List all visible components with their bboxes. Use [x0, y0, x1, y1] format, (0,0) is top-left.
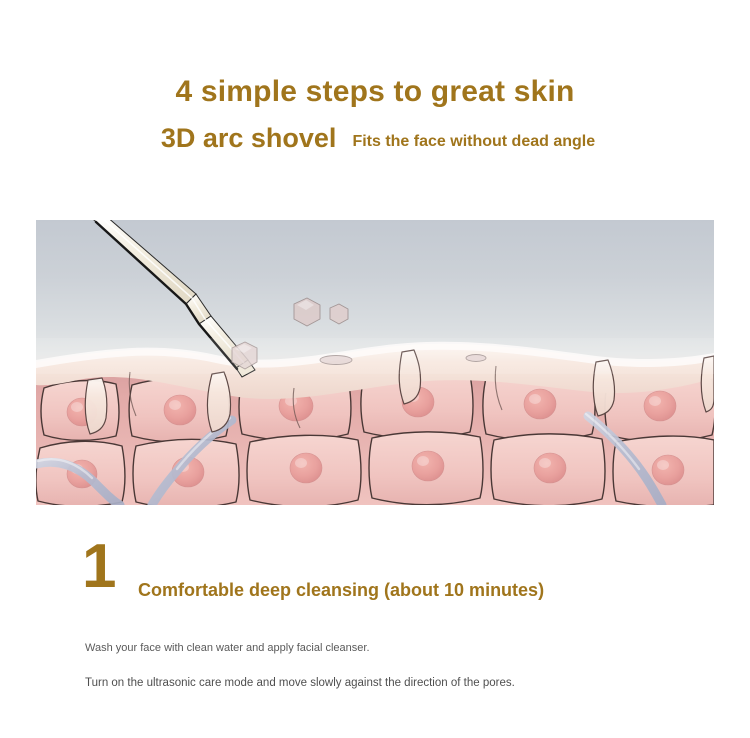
- feature-name: 3D arc shovel: [161, 122, 337, 154]
- step-description-line-1: Wash your face with clean water and appl…: [85, 640, 370, 656]
- step-title: Comfortable deep cleansing (about 10 min…: [138, 578, 544, 602]
- subtitle-row: 3D arc shovel Fits the face without dead…: [0, 122, 750, 154]
- page-title: 4 simple steps to great skin: [0, 74, 750, 110]
- step-block: 1 Comfortable deep cleansing (about 10 m…: [0, 536, 750, 736]
- skin-cross-section-illustration: [36, 220, 714, 505]
- skin-diagram-svg: [36, 220, 714, 505]
- step-description-line-2: Turn on the ultrasonic care mode and mov…: [85, 675, 515, 691]
- feature-tagline: Fits the face without dead angle: [352, 132, 595, 152]
- step-number: 1: [82, 536, 115, 598]
- product-steps-page: 4 simple steps to great skin 3D arc shov…: [0, 0, 750, 738]
- heading-block: 4 simple steps to great skin 3D arc shov…: [0, 74, 750, 154]
